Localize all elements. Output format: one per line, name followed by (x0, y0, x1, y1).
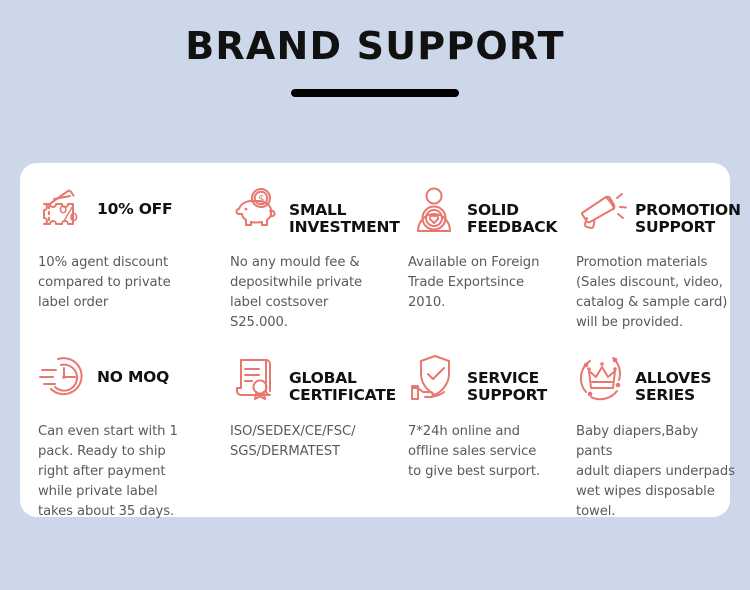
header: BRAND SUPPORT (0, 0, 750, 97)
features-grid: % 10% OFF 10% agent discount compared to… (20, 163, 730, 517)
megaphone-icon (576, 184, 628, 236)
feature-description: No any mould fee & depositwhile private … (230, 253, 398, 333)
feature-card-discount: % 10% OFF 10% agent discount compared to… (38, 181, 230, 349)
feature-header: PROMOTION SUPPORT (576, 181, 738, 239)
piggy-bank-icon: $ (230, 184, 282, 236)
fast-clock-icon (38, 352, 90, 404)
feature-header: ALLOVES SERIES (576, 349, 738, 407)
svg-text:$: $ (258, 194, 265, 206)
feature-description: 7*24h online and offline sales service t… (408, 422, 566, 482)
page-title: BRAND SUPPORT (0, 26, 750, 68)
features-panel: % 10% OFF 10% agent discount compared to… (20, 163, 730, 517)
feature-title: NO MOQ (97, 369, 169, 387)
feature-header: GLOBAL CERTIFICATE (230, 349, 398, 407)
feature-title: PROMOTION SUPPORT (635, 202, 741, 239)
person-heart-icon (408, 184, 460, 236)
feature-title: SERVICE SUPPORT (467, 370, 547, 407)
svg-text:%: % (59, 202, 79, 226)
feature-title: 10% OFF (97, 201, 172, 219)
feature-description: Can even start with 1 pack. Ready to shi… (38, 422, 220, 522)
brand-support-page: BRAND SUPPORT % 10% OFF (0, 0, 750, 590)
feature-description: ISO/SEDEX/CE/FSC/ SGS/DERMATEST (230, 422, 398, 462)
feature-header: % 10% OFF (38, 181, 220, 239)
crown-icon (576, 352, 628, 404)
feature-description: Available on Foreign Trade Exportsince 2… (408, 253, 566, 313)
feature-title: SMALL INVESTMENT (289, 202, 400, 239)
feature-card-feedback: SOLID FEEDBACK Available on Foreign Trad… (408, 181, 576, 349)
feature-card-service: SERVICE SUPPORT 7*24h online and offline… (408, 349, 576, 535)
feature-header: NO MOQ (38, 349, 220, 407)
title-underline-bar (291, 89, 459, 97)
feature-card-no-moq: NO MOQ Can even start with 1 pack. Ready… (38, 349, 230, 535)
feature-header: SOLID FEEDBACK (408, 181, 566, 239)
feature-card-promotion: PROMOTION SUPPORT Promotion materials (S… (576, 181, 748, 349)
feature-description: Promotion materials (Sales discount, vid… (576, 253, 738, 333)
shield-hand-icon (408, 352, 460, 404)
feature-description: 10% agent discount compared to private l… (38, 253, 220, 313)
feature-title: SOLID FEEDBACK (467, 202, 557, 239)
feature-card-investment: $ SMALL INVESTMENT No any mould fee & de… (230, 181, 408, 349)
feature-description: Baby diapers,Baby pants adult diapers un… (576, 422, 738, 522)
discount-ticket-icon: % (38, 184, 90, 236)
feature-title: ALLOVES SERIES (635, 370, 711, 407)
feature-card-certificate: GLOBAL CERTIFICATE ISO/SEDEX/CE/FSC/ SGS… (230, 349, 408, 535)
feature-header: SERVICE SUPPORT (408, 349, 566, 407)
feature-card-alloves: ALLOVES SERIES Baby diapers,Baby pants a… (576, 349, 748, 535)
certificate-scroll-icon (230, 352, 282, 404)
feature-title: GLOBAL CERTIFICATE (289, 370, 396, 407)
feature-header: $ SMALL INVESTMENT (230, 181, 398, 239)
